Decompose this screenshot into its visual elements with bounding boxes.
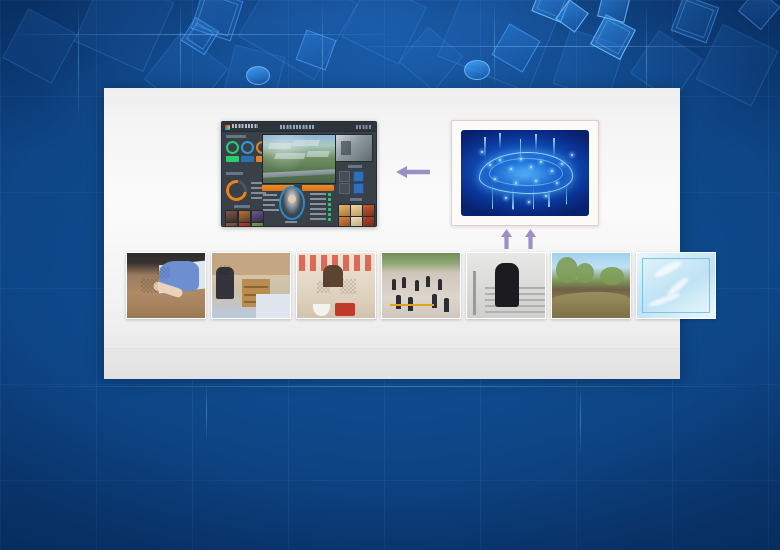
- kpi-panel-label: [226, 135, 246, 138]
- flow-arrow-left: [394, 164, 432, 180]
- camera-feed[interactable]: [335, 134, 373, 162]
- photo-4[interactable]: [381, 252, 461, 319]
- photo-1[interactable]: [126, 252, 206, 319]
- white-content-card: [104, 88, 680, 378]
- slide-canvas: [0, 0, 780, 550]
- photo-3[interactable]: [296, 252, 376, 319]
- photo-2[interactable]: [211, 252, 291, 319]
- device-panel-label: [348, 165, 362, 168]
- ai-brain-panel[interactable]: [451, 120, 599, 226]
- service-donut-chart: [222, 176, 251, 205]
- dashboard-title-text: [280, 125, 314, 129]
- donut-panel-label: [226, 172, 243, 175]
- photo-5[interactable]: [466, 252, 546, 319]
- platform-logo-icon: [225, 125, 230, 130]
- smart-care-dashboard[interactable]: [221, 121, 377, 227]
- meal-panel-label: [350, 198, 362, 201]
- resident-panel-label: [234, 205, 250, 208]
- photo-7[interactable]: [636, 252, 716, 319]
- gauge-blue-chip: [241, 156, 254, 162]
- card-bottom-band: [104, 348, 680, 379]
- realtime-alert-bar[interactable]: [302, 185, 334, 191]
- dashboard-header-right-text: [356, 125, 372, 129]
- gauge-green-chip: [226, 156, 239, 162]
- scene-photo-strip: [126, 252, 716, 319]
- dashboard-header: [222, 122, 376, 132]
- ai-brain-graphic: [461, 130, 589, 216]
- platform-logo-text: [232, 124, 258, 128]
- gauge-blue: [241, 141, 254, 154]
- focus-person-label: [285, 221, 297, 223]
- photo-6[interactable]: [551, 252, 631, 319]
- flow-arrow-up-2: [524, 228, 537, 250]
- focus-person-avatar: [279, 186, 305, 220]
- flow-arrow-up-1: [500, 228, 513, 250]
- gauge-green: [226, 141, 239, 154]
- park-video-feed[interactable]: [262, 134, 336, 184]
- brain-inner-outline: [489, 158, 563, 186]
